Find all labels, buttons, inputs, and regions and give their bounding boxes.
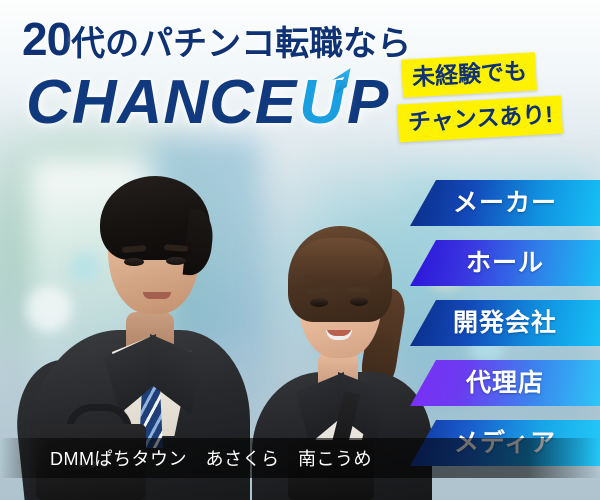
chance-up-logo: CHANCE U P: [26, 72, 389, 134]
category-bar-hall[interactable]: ホール: [410, 240, 600, 286]
category-bar-developer[interactable]: 開発会社: [410, 300, 600, 346]
headline: 20 代のパチンコ転職なら: [22, 16, 411, 62]
category-label-agency: 代理店: [466, 371, 544, 396]
category-bar-maker[interactable]: メーカー: [410, 180, 600, 226]
category-bar-list: メーカー ホール 開発会社 代理店 メディア: [410, 180, 600, 480]
category-label-maker: メーカー: [453, 191, 557, 216]
logo-u-letter: U: [297, 72, 347, 134]
caption-text: DMMぱちタウン あさくら 南こうめ: [0, 445, 372, 471]
no-experience-badge: 未経験でも チャンスあり!: [398, 56, 594, 138]
recruitment-banner: 20 代のパチンコ転職なら CHANCE U P 未経験でも チャンスあり! メ…: [0, 0, 600, 500]
female-eye-left: [310, 298, 328, 307]
male-mouth: [143, 292, 171, 299]
headline-number: 20: [22, 16, 71, 62]
badge-line-1: 未経験でも: [401, 52, 537, 97]
category-bar-agency[interactable]: 代理店: [410, 360, 600, 406]
male-eye-right: [166, 257, 186, 265]
female-eye-right: [350, 297, 368, 306]
bokeh-light-2: [70, 252, 100, 282]
male-eye-left: [124, 258, 144, 266]
logo-p-letter: P: [347, 72, 389, 134]
female-bangs: [296, 238, 384, 282]
caption-strip: DMMぱちタウン あさくら 南こうめ: [0, 438, 600, 478]
category-label-hall: ホール: [466, 251, 544, 276]
logo-chance-text: CHANCE: [26, 72, 297, 134]
headline-text: 代のパチンコ転職なら: [71, 27, 411, 61]
bokeh-light-1: [26, 286, 72, 332]
badge-line-2: チャンスあり!: [397, 95, 563, 142]
category-label-developer: 開発会社: [453, 311, 557, 336]
